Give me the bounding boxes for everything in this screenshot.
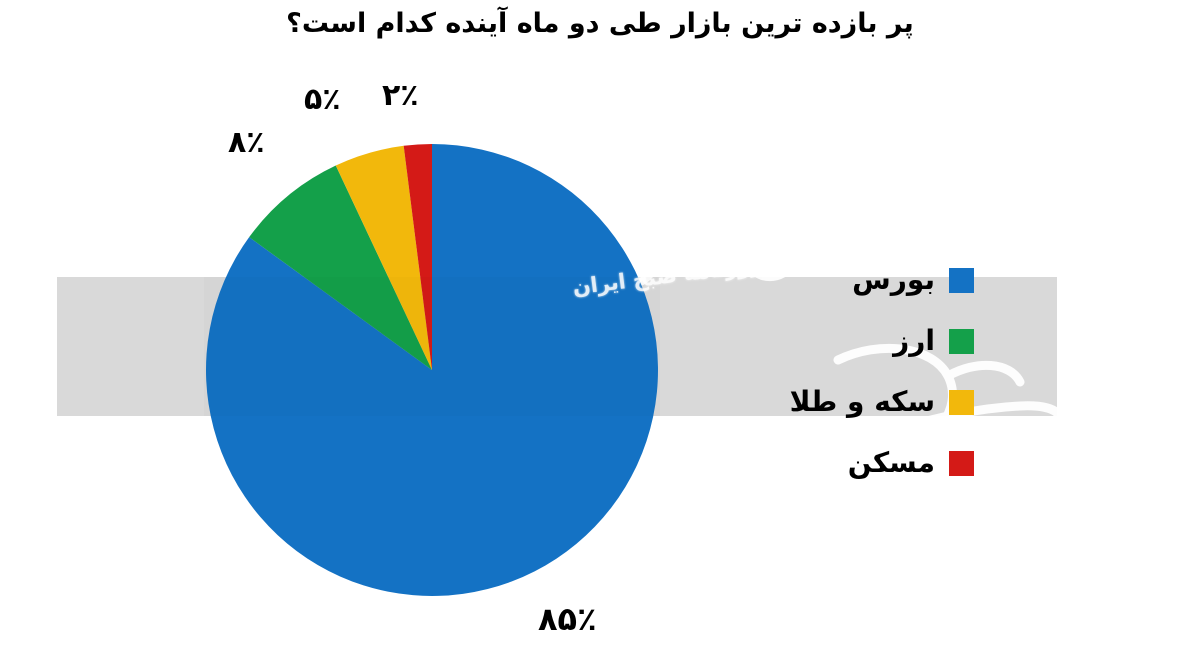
legend-item-sekke[interactable]: سکه و طلا [790,384,990,420]
legend: بورس ارز سکه و طلا مسکن [790,262,990,506]
legend-item-maskan[interactable]: مسکن [790,445,990,481]
pie-label-boors: ۸۵٪ [538,600,597,638]
pie-label-arz: ۸٪ [228,125,265,160]
legend-label-arz: ارز [893,327,935,355]
pie-chart [204,142,660,598]
page-title: پر بازده ترین بازار طی دو ماه آینده کدام… [0,8,1200,39]
chart-canvas: پر بازده ترین بازار طی دو ماه آینده کدام… [0,0,1200,657]
legend-swatch-icon-maskan [949,451,974,476]
legend-swatch-icon-arz [949,329,974,354]
legend-label-maskan: مسکن [848,449,935,477]
legend-item-arz[interactable]: ارز [790,323,990,359]
legend-swatch-icon-sekke [949,390,974,415]
legend-swatch-icon-boors [949,268,974,293]
legend-item-boors[interactable]: بورس [790,262,990,298]
legend-label-boors: بورس [852,266,935,294]
legend-label-sekke: سکه و طلا [790,388,935,416]
pie-band-overlay [204,277,660,416]
pie-label-maskan: ۲٪ [382,78,419,113]
pie-label-sekke: ۵٪ [304,82,341,117]
